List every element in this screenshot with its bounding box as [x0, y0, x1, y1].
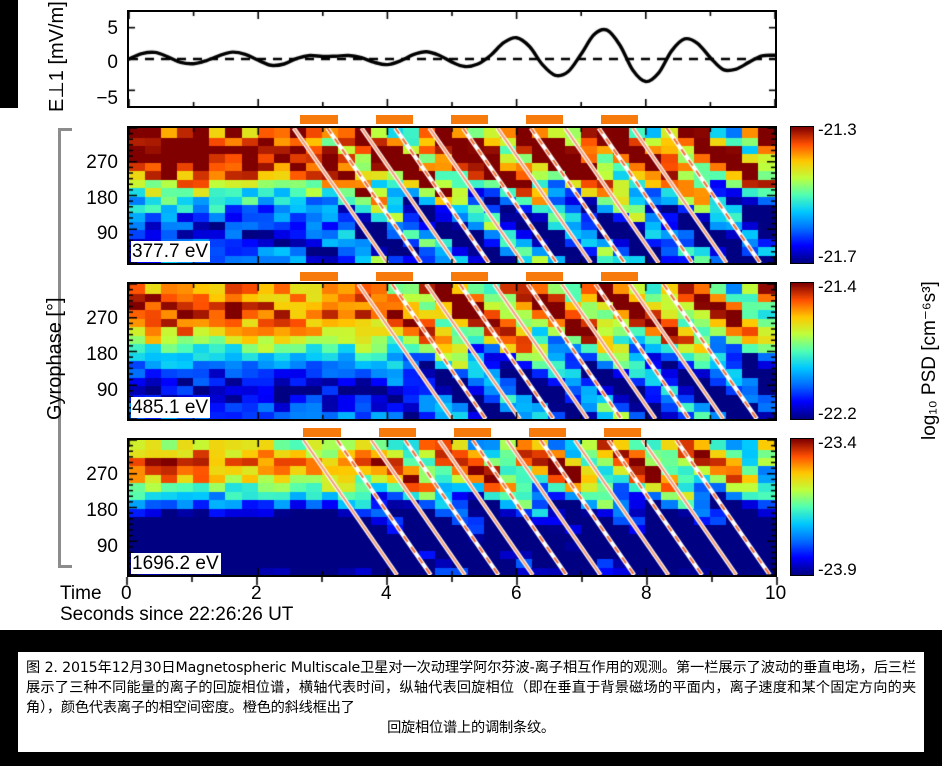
wave-ytick-1: 0 — [76, 52, 118, 74]
colorbar-1696 — [790, 438, 814, 576]
wave-interval-bar-1 — [300, 115, 638, 124]
colorbar-1696-max: -23.4 — [818, 433, 857, 453]
spectrogram-canvas-377 — [129, 128, 775, 263]
xtick-6: 6 — [511, 583, 522, 605]
colorbar-485 — [790, 282, 814, 420]
panel1-ytick-270: 270 — [58, 152, 118, 174]
panel2-ytick-90: 90 — [58, 380, 118, 402]
plot-background-left-strip — [0, 108, 30, 630]
xtick-4: 4 — [381, 583, 392, 605]
colorbar-1696-min: -23.9 — [818, 560, 857, 580]
colorbar-377-max: -21.3 — [818, 120, 857, 140]
wave-ytick-2: −5 — [70, 88, 118, 110]
caption-text: 图 2. 2015年12月30日Magnetospheric Multiscal… — [26, 658, 916, 738]
xaxis-time-label: Time — [60, 583, 102, 605]
colorbar-axis-label: log₁₀ PSD [cm⁻⁶s³] — [918, 281, 941, 440]
wave-panel — [127, 10, 777, 108]
x-axis-ticks — [110, 577, 810, 591]
panel3-ytick-90: 90 — [58, 536, 118, 558]
energy-label-485: 485.1 eV — [131, 397, 210, 418]
wave-interval-bar-3 — [303, 428, 641, 437]
xtick-10: 10 — [765, 583, 786, 605]
panel3-ytick-180: 180 — [58, 500, 118, 522]
xaxis-sublabel: Seconds since 22:26:26 UT — [60, 604, 293, 626]
panel2-ytick-270: 270 — [58, 308, 118, 330]
caption-box: 图 2. 2015年12月30日Magnetospheric Multiscal… — [16, 650, 926, 754]
colorbar-485-min: -22.2 — [818, 404, 857, 424]
colorbar-377-min: -21.7 — [818, 247, 857, 267]
caption-last-line: 回旋相位谱上的调制条纹。 — [26, 718, 916, 738]
figure-root: E⊥1 [mV/m] 5 0 −5 Gyrophase [°] 270 180 … — [0, 0, 942, 766]
spectrogram-panel-377 — [127, 126, 777, 265]
panel3-ytick-270: 270 — [58, 464, 118, 486]
xtick-0: 0 — [121, 583, 132, 605]
colorbar-485-max: -21.4 — [818, 277, 857, 297]
colorbar-377 — [790, 126, 814, 264]
wave-ylabel: E⊥1 [mV/m] — [44, 1, 69, 112]
energy-label-377: 377.7 eV — [131, 241, 210, 262]
spectrogram-canvas-485 — [129, 284, 775, 419]
energy-label-1696: 1696.2 eV — [131, 553, 221, 574]
spectrogram-panel-485 — [127, 282, 777, 421]
xtick-2: 2 — [251, 583, 262, 605]
caption-main: 图 2. 2015年12月30日Magnetospheric Multiscal… — [26, 660, 916, 716]
xtick-8: 8 — [641, 583, 652, 605]
wave-canvas — [129, 12, 775, 106]
panel1-ytick-90: 90 — [58, 223, 118, 245]
wave-ytick-0: 5 — [76, 18, 118, 40]
panel1-ytick-180: 180 — [58, 188, 118, 210]
spectrogram-canvas-1696 — [129, 440, 775, 575]
spectrogram-panel-1696 — [127, 438, 777, 577]
panel2-ytick-180: 180 — [58, 344, 118, 366]
wave-interval-bar-2 — [300, 272, 638, 281]
